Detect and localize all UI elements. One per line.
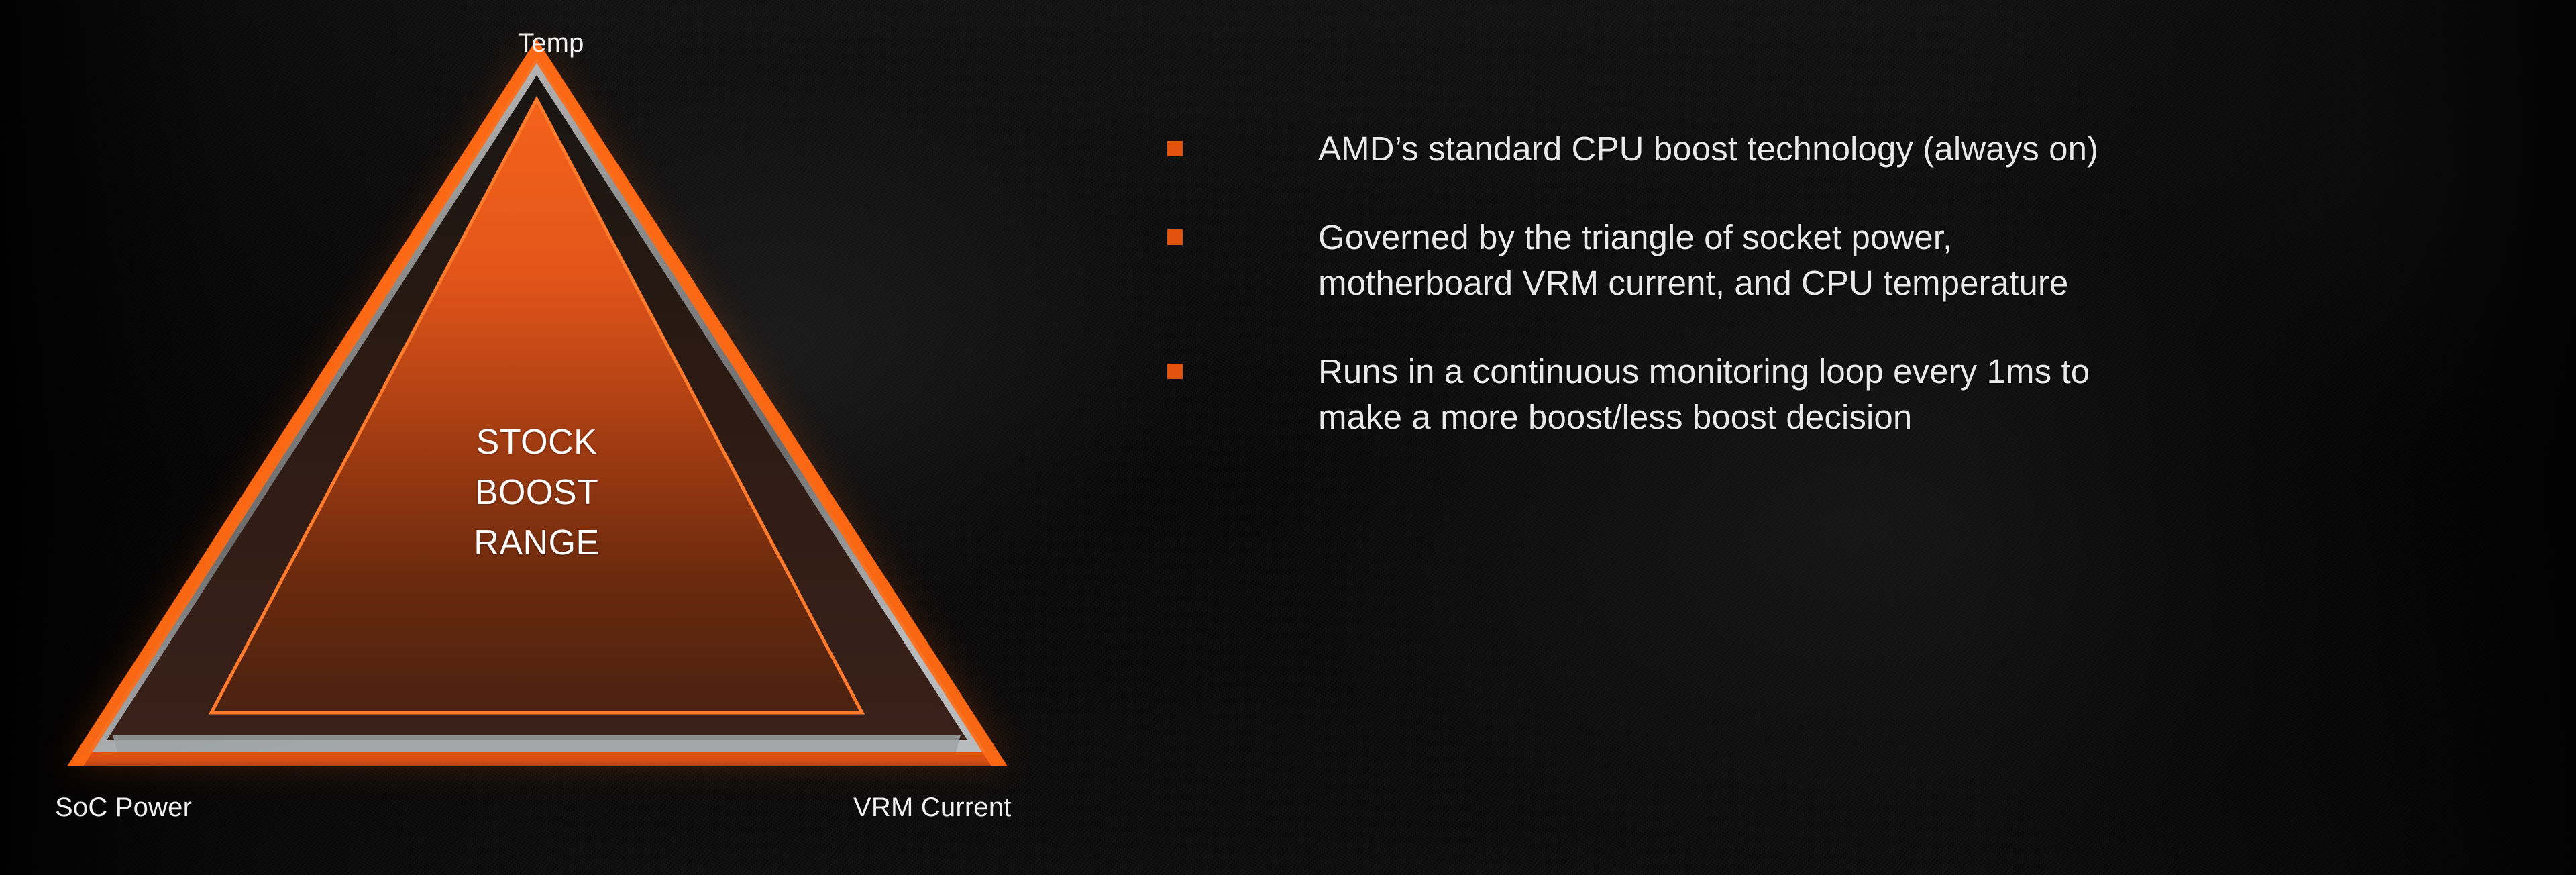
vertex-label-vrm-current: VRM Current xyxy=(853,792,1012,823)
list-item: Governed by the triangle of socket power… xyxy=(1167,215,2482,306)
bullet-list: AMD’s standard CPU boost technology (alw… xyxy=(1167,126,2482,483)
bullet-line: motherboard VRM current, and CPU tempera… xyxy=(1318,260,2482,306)
list-item: AMD’s standard CPU boost technology (alw… xyxy=(1167,126,2482,172)
vertex-label-temp: Temp xyxy=(518,28,584,58)
bullet-line: Governed by the triangle of socket power… xyxy=(1318,215,2482,260)
caption-line-1: STOCK xyxy=(396,417,678,468)
slide-canvas: Temp SoC Power VRM Current STOCK BOOST R… xyxy=(0,0,2576,875)
square-bullet-icon xyxy=(1167,364,1183,379)
bullet-line: AMD’s standard CPU boost technology (alw… xyxy=(1318,126,2482,172)
caption-line-3: RANGE xyxy=(396,518,678,568)
square-bullet-icon xyxy=(1167,229,1183,245)
triangle-base-rim xyxy=(67,752,1008,766)
vertex-label-soc-power: SoC Power xyxy=(55,792,192,823)
triangle-base-highlight xyxy=(113,735,961,754)
list-item: Runs in a continuous monitoring loop eve… xyxy=(1167,349,2482,440)
bullet-text-2: Governed by the triangle of socket power… xyxy=(1318,215,2482,306)
bullet-line: make a more boost/less boost decision xyxy=(1318,395,2482,440)
bullet-text-1: AMD’s standard CPU boost technology (alw… xyxy=(1318,126,2482,172)
bullet-text-3: Runs in a continuous monitoring loop eve… xyxy=(1318,349,2482,440)
stock-boost-range-diagram: Temp SoC Power VRM Current STOCK BOOST R… xyxy=(0,0,1140,875)
square-bullet-icon xyxy=(1167,141,1183,156)
triangle-caption: STOCK BOOST RANGE xyxy=(396,417,678,568)
bullet-line: Runs in a continuous monitoring loop eve… xyxy=(1318,349,2482,395)
caption-line-2: BOOST xyxy=(396,468,678,518)
